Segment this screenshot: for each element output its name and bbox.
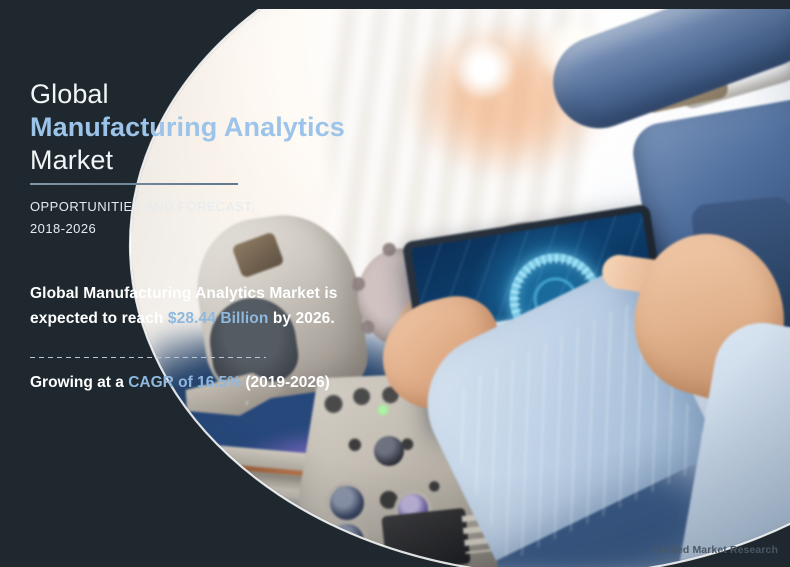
subtitle-line-2: 2018-2026 xyxy=(30,221,96,236)
photo-vignette xyxy=(0,0,790,567)
stat-cagr-prefix: Growing at a xyxy=(30,374,128,391)
top-dark-strip xyxy=(0,0,790,9)
title-line-1: Global xyxy=(30,79,109,109)
market-report-banner: Global Manufacturing Analytics Market OP… xyxy=(0,0,790,567)
title-line-3: Market xyxy=(30,145,113,175)
hero-photo xyxy=(0,0,790,567)
copyright-credit: ©Allied Market Research xyxy=(652,544,778,556)
factory-photo-composition xyxy=(0,0,790,567)
